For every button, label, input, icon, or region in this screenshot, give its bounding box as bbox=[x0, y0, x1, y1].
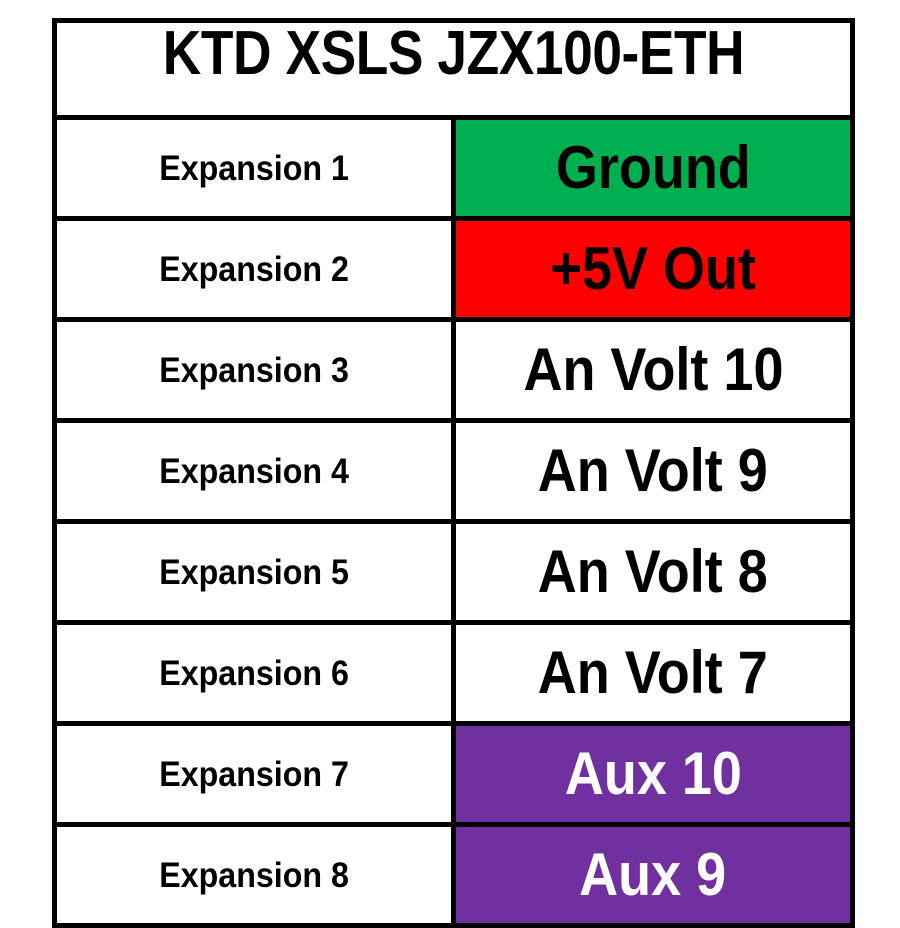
pin-label-text: Expansion 4 bbox=[159, 454, 349, 489]
pin-label-cell: Expansion 5 bbox=[55, 522, 454, 623]
table-row: Expansion 3An Volt 10 bbox=[55, 320, 853, 421]
pin-label-cell: Expansion 1 bbox=[55, 118, 454, 219]
pin-value-text: Aux 9 bbox=[579, 845, 726, 905]
pin-label-cell: Expansion 4 bbox=[55, 421, 454, 522]
pin-value-text: An Volt 9 bbox=[538, 441, 768, 501]
pinout-table-body: KTD XSLS JZX100-ETH Expansion 1GroundExp… bbox=[55, 21, 853, 926]
pin-label-text: Expansion 7 bbox=[159, 757, 349, 792]
table-title-cell: KTD XSLS JZX100-ETH bbox=[55, 21, 853, 118]
table-row: Expansion 7Aux 10 bbox=[55, 724, 853, 825]
pin-value-text: +5V Out bbox=[550, 239, 756, 299]
pin-label-text: Expansion 5 bbox=[159, 555, 349, 590]
table-row: Expansion 1Ground bbox=[55, 118, 853, 219]
pin-label-text: Expansion 2 bbox=[159, 252, 349, 287]
pin-label-cell: Expansion 2 bbox=[55, 219, 454, 320]
pin-value-cell: Aux 10 bbox=[454, 724, 853, 825]
pin-value-cell: Aux 9 bbox=[454, 825, 853, 926]
pin-value-cell: An Volt 7 bbox=[454, 623, 853, 724]
pin-value-cell: Ground bbox=[454, 118, 853, 219]
pin-value-cell: +5V Out bbox=[454, 219, 853, 320]
table-row: Expansion 2+5V Out bbox=[55, 219, 853, 320]
pin-label-cell: Expansion 6 bbox=[55, 623, 454, 724]
table-row: Expansion 4An Volt 9 bbox=[55, 421, 853, 522]
pin-value-text: An Volt 8 bbox=[538, 542, 768, 602]
pin-value-text: Aux 10 bbox=[564, 744, 741, 804]
pin-value-text: An Volt 7 bbox=[538, 643, 768, 703]
pin-label-text: Expansion 1 bbox=[159, 151, 349, 186]
pin-label-cell: Expansion 3 bbox=[55, 320, 454, 421]
pin-label-text: Expansion 3 bbox=[159, 353, 349, 388]
pin-value-text: Ground bbox=[556, 138, 751, 198]
pin-label-text: Expansion 6 bbox=[159, 656, 349, 691]
table-row: Expansion 8Aux 9 bbox=[55, 825, 853, 926]
pin-value-cell: An Volt 8 bbox=[454, 522, 853, 623]
table-row: Expansion 5An Volt 8 bbox=[55, 522, 853, 623]
pin-label-cell: Expansion 7 bbox=[55, 724, 454, 825]
pin-value-cell: An Volt 10 bbox=[454, 320, 853, 421]
page-title: KTD XSLS JZX100-ETH bbox=[113, 23, 795, 115]
pin-value-text: An Volt 10 bbox=[523, 340, 783, 400]
pin-label-text: Expansion 8 bbox=[159, 858, 349, 893]
table-header-row: KTD XSLS JZX100-ETH bbox=[55, 21, 853, 118]
pin-label-cell: Expansion 8 bbox=[55, 825, 454, 926]
table-row: Expansion 6An Volt 7 bbox=[55, 623, 853, 724]
pin-value-cell: An Volt 9 bbox=[454, 421, 853, 522]
pinout-table: KTD XSLS JZX100-ETH Expansion 1GroundExp… bbox=[52, 18, 855, 928]
